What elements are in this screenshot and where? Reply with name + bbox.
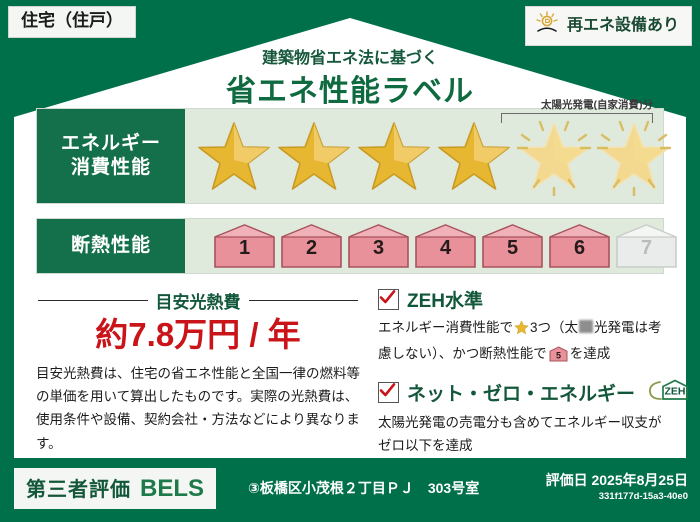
insulation-label-text: 断熱性能 xyxy=(71,234,151,258)
energy-star-rating xyxy=(185,120,671,192)
bels-en-label: BELS xyxy=(140,475,204,503)
zeh-standard-checkbox[interactable] xyxy=(378,289,399,310)
zeh-body-part1: エネルギー消費性能で xyxy=(378,320,513,335)
house-icon-filled: 6 xyxy=(548,223,611,269)
building-type-label: 住宅（住戸） xyxy=(21,11,123,30)
energy-label-line2: 消費性能 xyxy=(71,156,151,180)
svg-text:5: 5 xyxy=(556,350,561,360)
insulation-house-scale: 1234567 xyxy=(185,223,678,269)
solar-bracket xyxy=(501,113,653,123)
bels-chip: 第三者評価 BELS xyxy=(14,468,216,509)
evaluation-info: 評価日 2025年8月25日 331f177d-15a3-40e0 xyxy=(546,470,688,502)
inline-star-icon xyxy=(514,323,529,338)
house-level-number: 5 xyxy=(481,237,544,260)
star-icon-filled xyxy=(357,120,431,192)
energy-label-line1: エネルギー xyxy=(61,132,161,156)
utility-cost-note: 目安光熱費は、住宅の省エネ性能と全国一律の燃料等の単価を用いて算出したものです。… xyxy=(36,362,366,455)
house-icon-filled: 2 xyxy=(280,223,343,269)
house-level-number: 2 xyxy=(280,237,343,260)
star-icon-filled xyxy=(277,120,351,192)
solar-sun-icon xyxy=(534,11,560,40)
net-zero-energy-title: ネット・ゼロ・エネルギー xyxy=(407,379,635,406)
insulation-performance-row: 断熱性能 1234567 xyxy=(36,218,664,274)
label-title: 省エネ性能ラベル xyxy=(0,66,700,110)
house-icon-filled: 1 xyxy=(213,223,276,269)
net-zero-energy-checkbox[interactable] xyxy=(378,382,399,403)
evaluation-date: 評価日 2025年8月25日 xyxy=(546,470,688,490)
building-type-chip: 住宅（住戸） xyxy=(8,6,136,38)
star-icon-filled xyxy=(437,120,511,192)
bels-jp-label: 第三者評価 xyxy=(26,473,131,502)
utility-cost-value: 約7.8万円 / 年 xyxy=(38,308,358,356)
energy-performance-row: エネルギー 消費性能 太陽光発電(自家消費)分 xyxy=(36,108,664,204)
criterion-zeh-standard: ZEH水準 エネルギー消費性能で3つ（太光発電は考慮しない）、かつ断熱性能で5を… xyxy=(378,286,670,365)
insulation-performance-label: 断熱性能 xyxy=(37,219,185,273)
star-icon-filled xyxy=(197,120,271,192)
house-icon-empty: 7 xyxy=(615,223,678,269)
zeh-body-part4: を達成 xyxy=(570,346,611,361)
zeh-body-part2: 3つ（太 xyxy=(530,320,578,335)
zeh-logo-icon: ZEH xyxy=(646,377,690,408)
zeh-standard-title: ZEH水準 xyxy=(407,286,483,313)
star-icon-solar xyxy=(597,120,671,192)
house-icon-filled: 4 xyxy=(414,223,477,269)
house-level-number: 4 xyxy=(414,237,477,260)
evaluation-id: 331f177d-15a3-40e0 xyxy=(546,491,688,502)
svg-text:ZEH: ZEH xyxy=(665,386,686,398)
house-level-number: 6 xyxy=(548,237,611,260)
energy-performance-label: 住宅（住戸） 再エネ設備あり 建築物省エネ法に基づく 省エネ性能ラベル xyxy=(0,0,700,522)
insulation-rating-area: 1234567 xyxy=(185,219,678,273)
energy-performance-label: エネルギー 消費性能 xyxy=(37,109,185,203)
house-level-number: 7 xyxy=(615,237,678,260)
criterion-zeh-header: ZEH水準 xyxy=(378,286,670,313)
label-subtitle: 建築物省エネ法に基づく xyxy=(0,44,700,68)
redacted-character xyxy=(579,320,593,333)
house-level-number: 1 xyxy=(213,237,276,260)
net-zero-energy-body: 太陽光発電の売電分も含めてエネルギー収支がゼロ以下を達成 xyxy=(378,412,670,457)
energy-rating-area: 太陽光発電(自家消費)分 xyxy=(185,109,671,203)
zeh-standard-body: エネルギー消費性能で3つ（太光発電は考慮しない）、かつ断熱性能で5を達成 xyxy=(378,317,670,365)
criteria-section: ZEH水準 エネルギー消費性能で3つ（太光発電は考慮しない）、かつ断熱性能で5を… xyxy=(378,286,670,470)
renewable-equipment-chip: 再エネ設備あり xyxy=(525,6,692,46)
label-footer: 第三者評価 BELS ③板橋区小茂根２丁目ＰＪ 303号室 評価日 2025年8… xyxy=(0,460,700,522)
cost-rule-left xyxy=(38,300,148,301)
renewable-equipment-label: 再エネ設備あり xyxy=(567,17,679,35)
house-level-number: 3 xyxy=(347,237,410,260)
cost-rule-right xyxy=(249,300,359,301)
property-address: ③板橋区小茂根２丁目ＰＪ 303号室 xyxy=(248,478,479,498)
criterion-net-zero-energy: ネット・ゼロ・エネルギー ZEH ZEH 太陽光発電の売電分も含めてエネルギー収… xyxy=(378,377,670,457)
house-icon-filled: 5 xyxy=(481,223,544,269)
house-icon-filled: 3 xyxy=(347,223,410,269)
criterion-nze-header: ネット・ゼロ・エネルギー ZEH ZEH xyxy=(378,377,670,408)
inline-house-badge-icon: 5 xyxy=(549,346,568,362)
star-icon-solar xyxy=(517,120,591,192)
